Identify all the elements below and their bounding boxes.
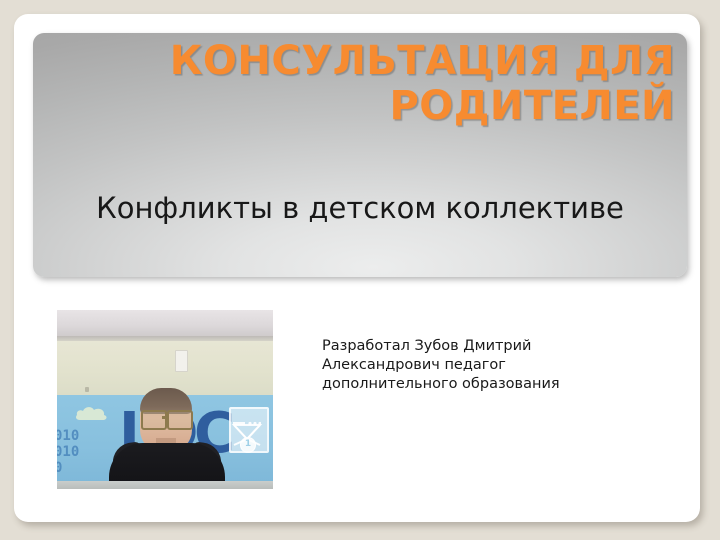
photo-upper-wall: [57, 341, 273, 395]
binary-decoration: 0100100: [57, 428, 79, 476]
slide-card: КОНСУЛЬТАЦИЯ ДЛЯ РОДИТЕЛЕЙ Конфликты в д…: [14, 14, 700, 522]
certificate-lines: [233, 412, 261, 418]
photo-ceiling: [57, 310, 273, 336]
title-panel: КОНСУЛЬТАЦИЯ ДЛЯ РОДИТЕЛЕЙ Конфликты в д…: [33, 33, 687, 277]
light-switch-icon: [175, 350, 188, 372]
author-photo: L D C 0100100 1: [57, 310, 273, 489]
author-credit-text: Разработал Зубов Дмитрий Александрович п…: [322, 337, 642, 394]
cloud-icon: [75, 406, 109, 421]
page-title: КОНСУЛЬТАЦИЯ ДЛЯ РОДИТЕЛЕЙ: [55, 39, 675, 129]
photo-person-glasses-bridge: [162, 416, 169, 419]
page-subtitle: Конфликты в детском коллективе: [33, 191, 687, 225]
photo-person-glasses-left: [141, 410, 167, 430]
photo-wall-mark: [85, 387, 89, 392]
photo-person-glasses-right: [167, 410, 193, 430]
slide-canvas: КОНСУЛЬТАЦИЯ ДЛЯ РОДИТЕЛЕЙ Конфликты в д…: [0, 0, 720, 540]
photo-foreground-counter: [57, 481, 273, 489]
medal-icon: 1: [240, 437, 256, 453]
